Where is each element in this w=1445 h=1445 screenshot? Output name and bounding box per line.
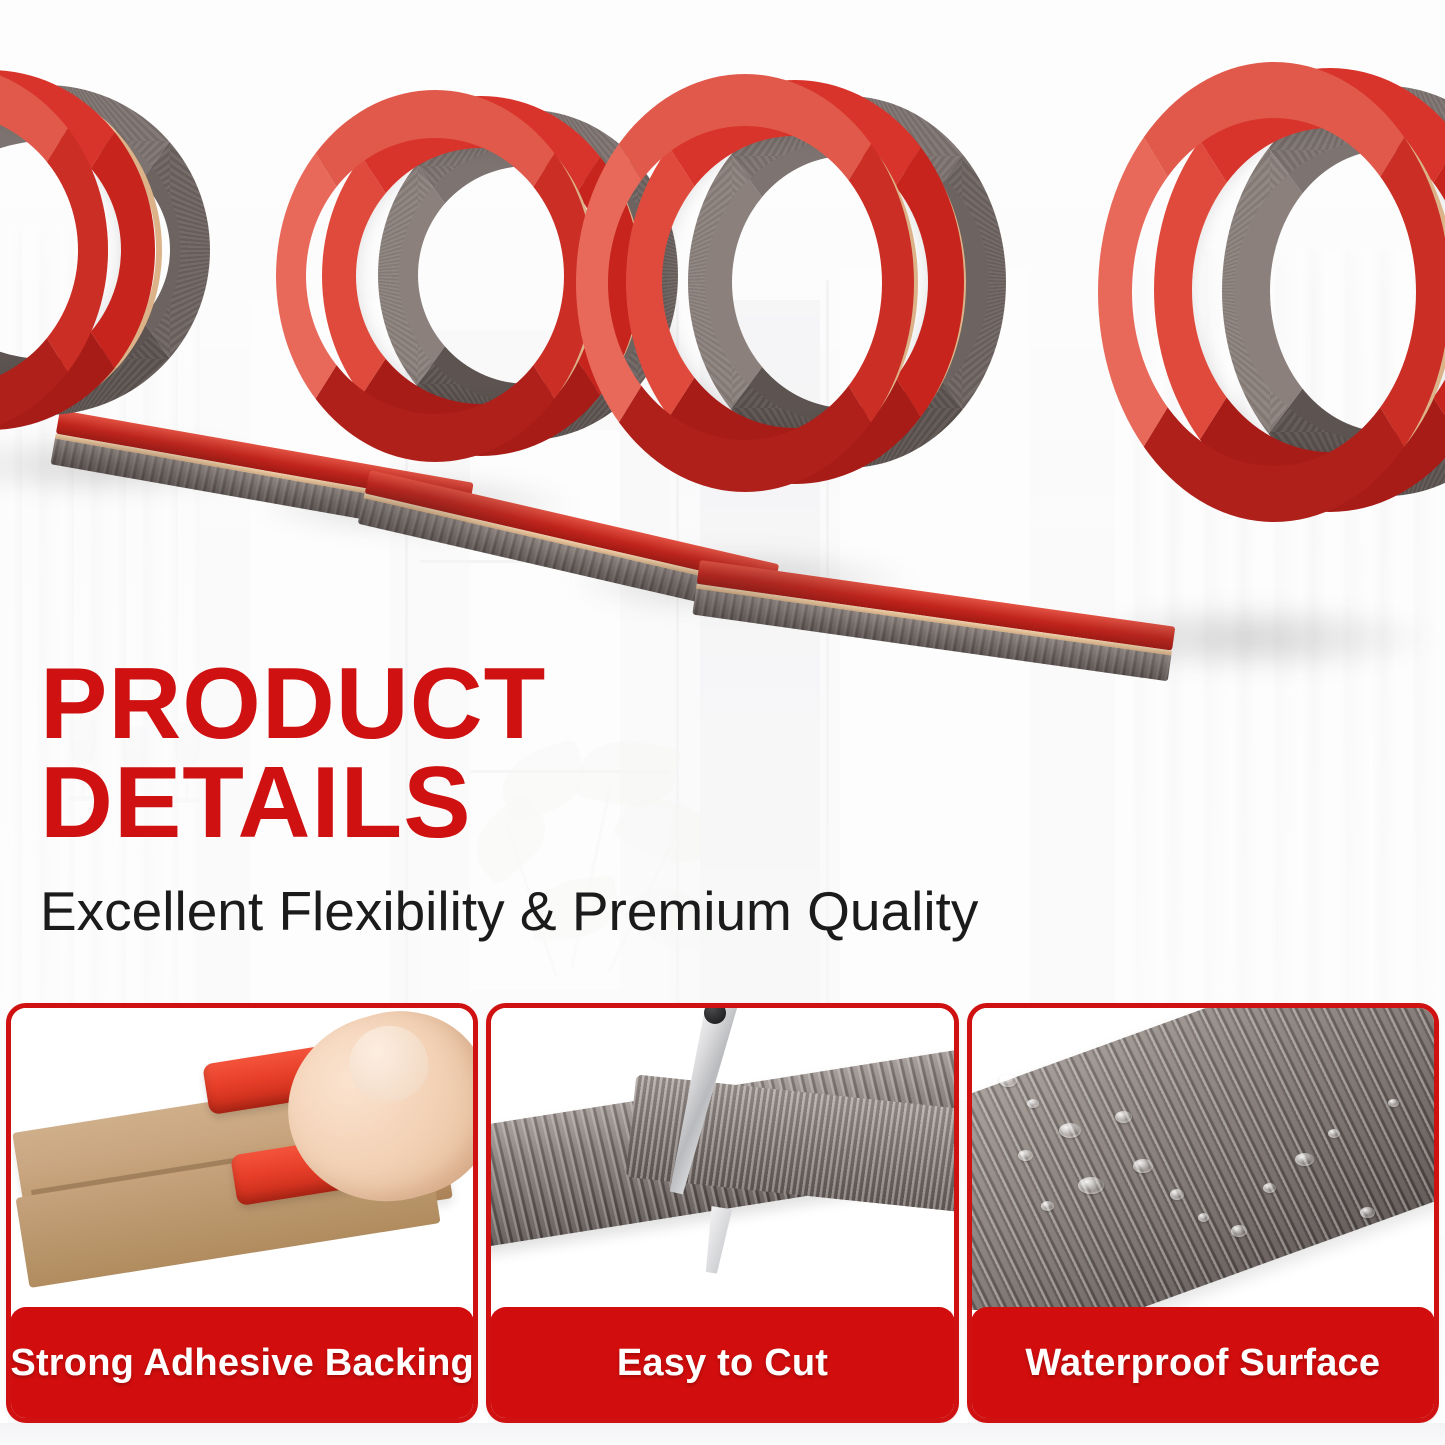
water-droplet (1018, 1150, 1033, 1161)
bottom-floor-strip (0, 1423, 1445, 1445)
subtitle: Excellent Flexibility & Premium Quality (40, 883, 1160, 941)
adhesive-backing-photo (11, 1008, 473, 1310)
water-droplet (1027, 1099, 1039, 1108)
wood-grain-band-wet (972, 1008, 1434, 1310)
caption-bar-waterproof: Waterproof Surface (971, 1307, 1435, 1419)
water-droplet (1059, 1123, 1081, 1138)
headline-line-2: DETAILS (40, 754, 1160, 853)
feature-panel-cut[interactable]: Easy to Cut (486, 1003, 958, 1423)
caption-label-adhesive: Strong Adhesive Backing (10, 1342, 474, 1385)
easy-to-cut-photo (491, 1008, 953, 1310)
feature-panels: Strong Adhesive Backing Easy to Cut (0, 1003, 1445, 1423)
feature-panel-waterproof[interactable]: Waterproof Surface (967, 1003, 1439, 1423)
product-details-infographic: PRODUCT DETAILS Excellent Flexibility & … (0, 0, 1445, 1445)
page-title: PRODUCT DETAILS (40, 655, 1160, 853)
feature-panel-adhesive[interactable]: Strong Adhesive Backing (6, 1003, 478, 1423)
caption-label-waterproof: Waterproof Surface (1025, 1342, 1380, 1385)
water-droplet (1328, 1129, 1340, 1138)
caption-bar-cut: Easy to Cut (490, 1307, 954, 1419)
water-droplet (1388, 1099, 1399, 1107)
scissor-blade-lower (699, 1206, 732, 1275)
caption-label-cut: Easy to Cut (617, 1342, 828, 1385)
caption-bar-adhesive: Strong Adhesive Backing (10, 1307, 474, 1419)
headline-line-1: PRODUCT (40, 648, 546, 760)
water-droplet (1115, 1111, 1132, 1123)
water-droplet (1078, 1177, 1104, 1194)
waterproof-surface-photo (972, 1008, 1434, 1310)
headline-block: PRODUCT DETAILS Excellent Flexibility & … (40, 655, 1160, 941)
edge-banding-coils (0, 0, 1445, 700)
